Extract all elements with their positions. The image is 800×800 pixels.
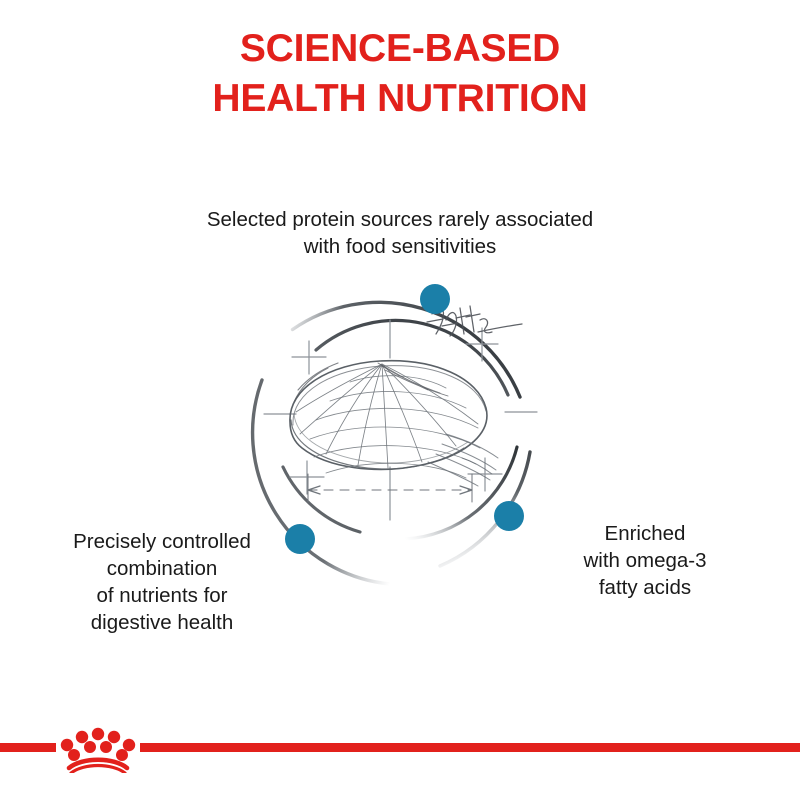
kibble-body [290,361,487,470]
title-line-1: SCIENCE-BASED [0,24,800,74]
dot-right [494,501,524,531]
page-title: SCIENCE-BASED HEALTH NUTRITION [0,24,800,124]
kibble-sketch [264,306,537,520]
crown-dots [61,728,135,761]
kibble-mesh-meridians [296,364,478,468]
footer-bar-left [0,743,56,752]
crown-base-arc [69,760,127,773]
brand-footer [0,735,800,757]
dot-top [420,284,450,314]
royal-canin-crown-logo [54,723,142,773]
callout-protein-sources: Selected protein sources rarely associat… [120,206,680,260]
footer-bar-right [140,743,800,752]
kibble-ring-diagram [230,262,570,602]
promo-card: SCIENCE-BASED HEALTH NUTRITION Selected … [0,0,800,800]
kibble-left-accent [294,363,338,402]
dot-left [285,524,315,554]
title-line-2: HEALTH NUTRITION [0,74,800,124]
